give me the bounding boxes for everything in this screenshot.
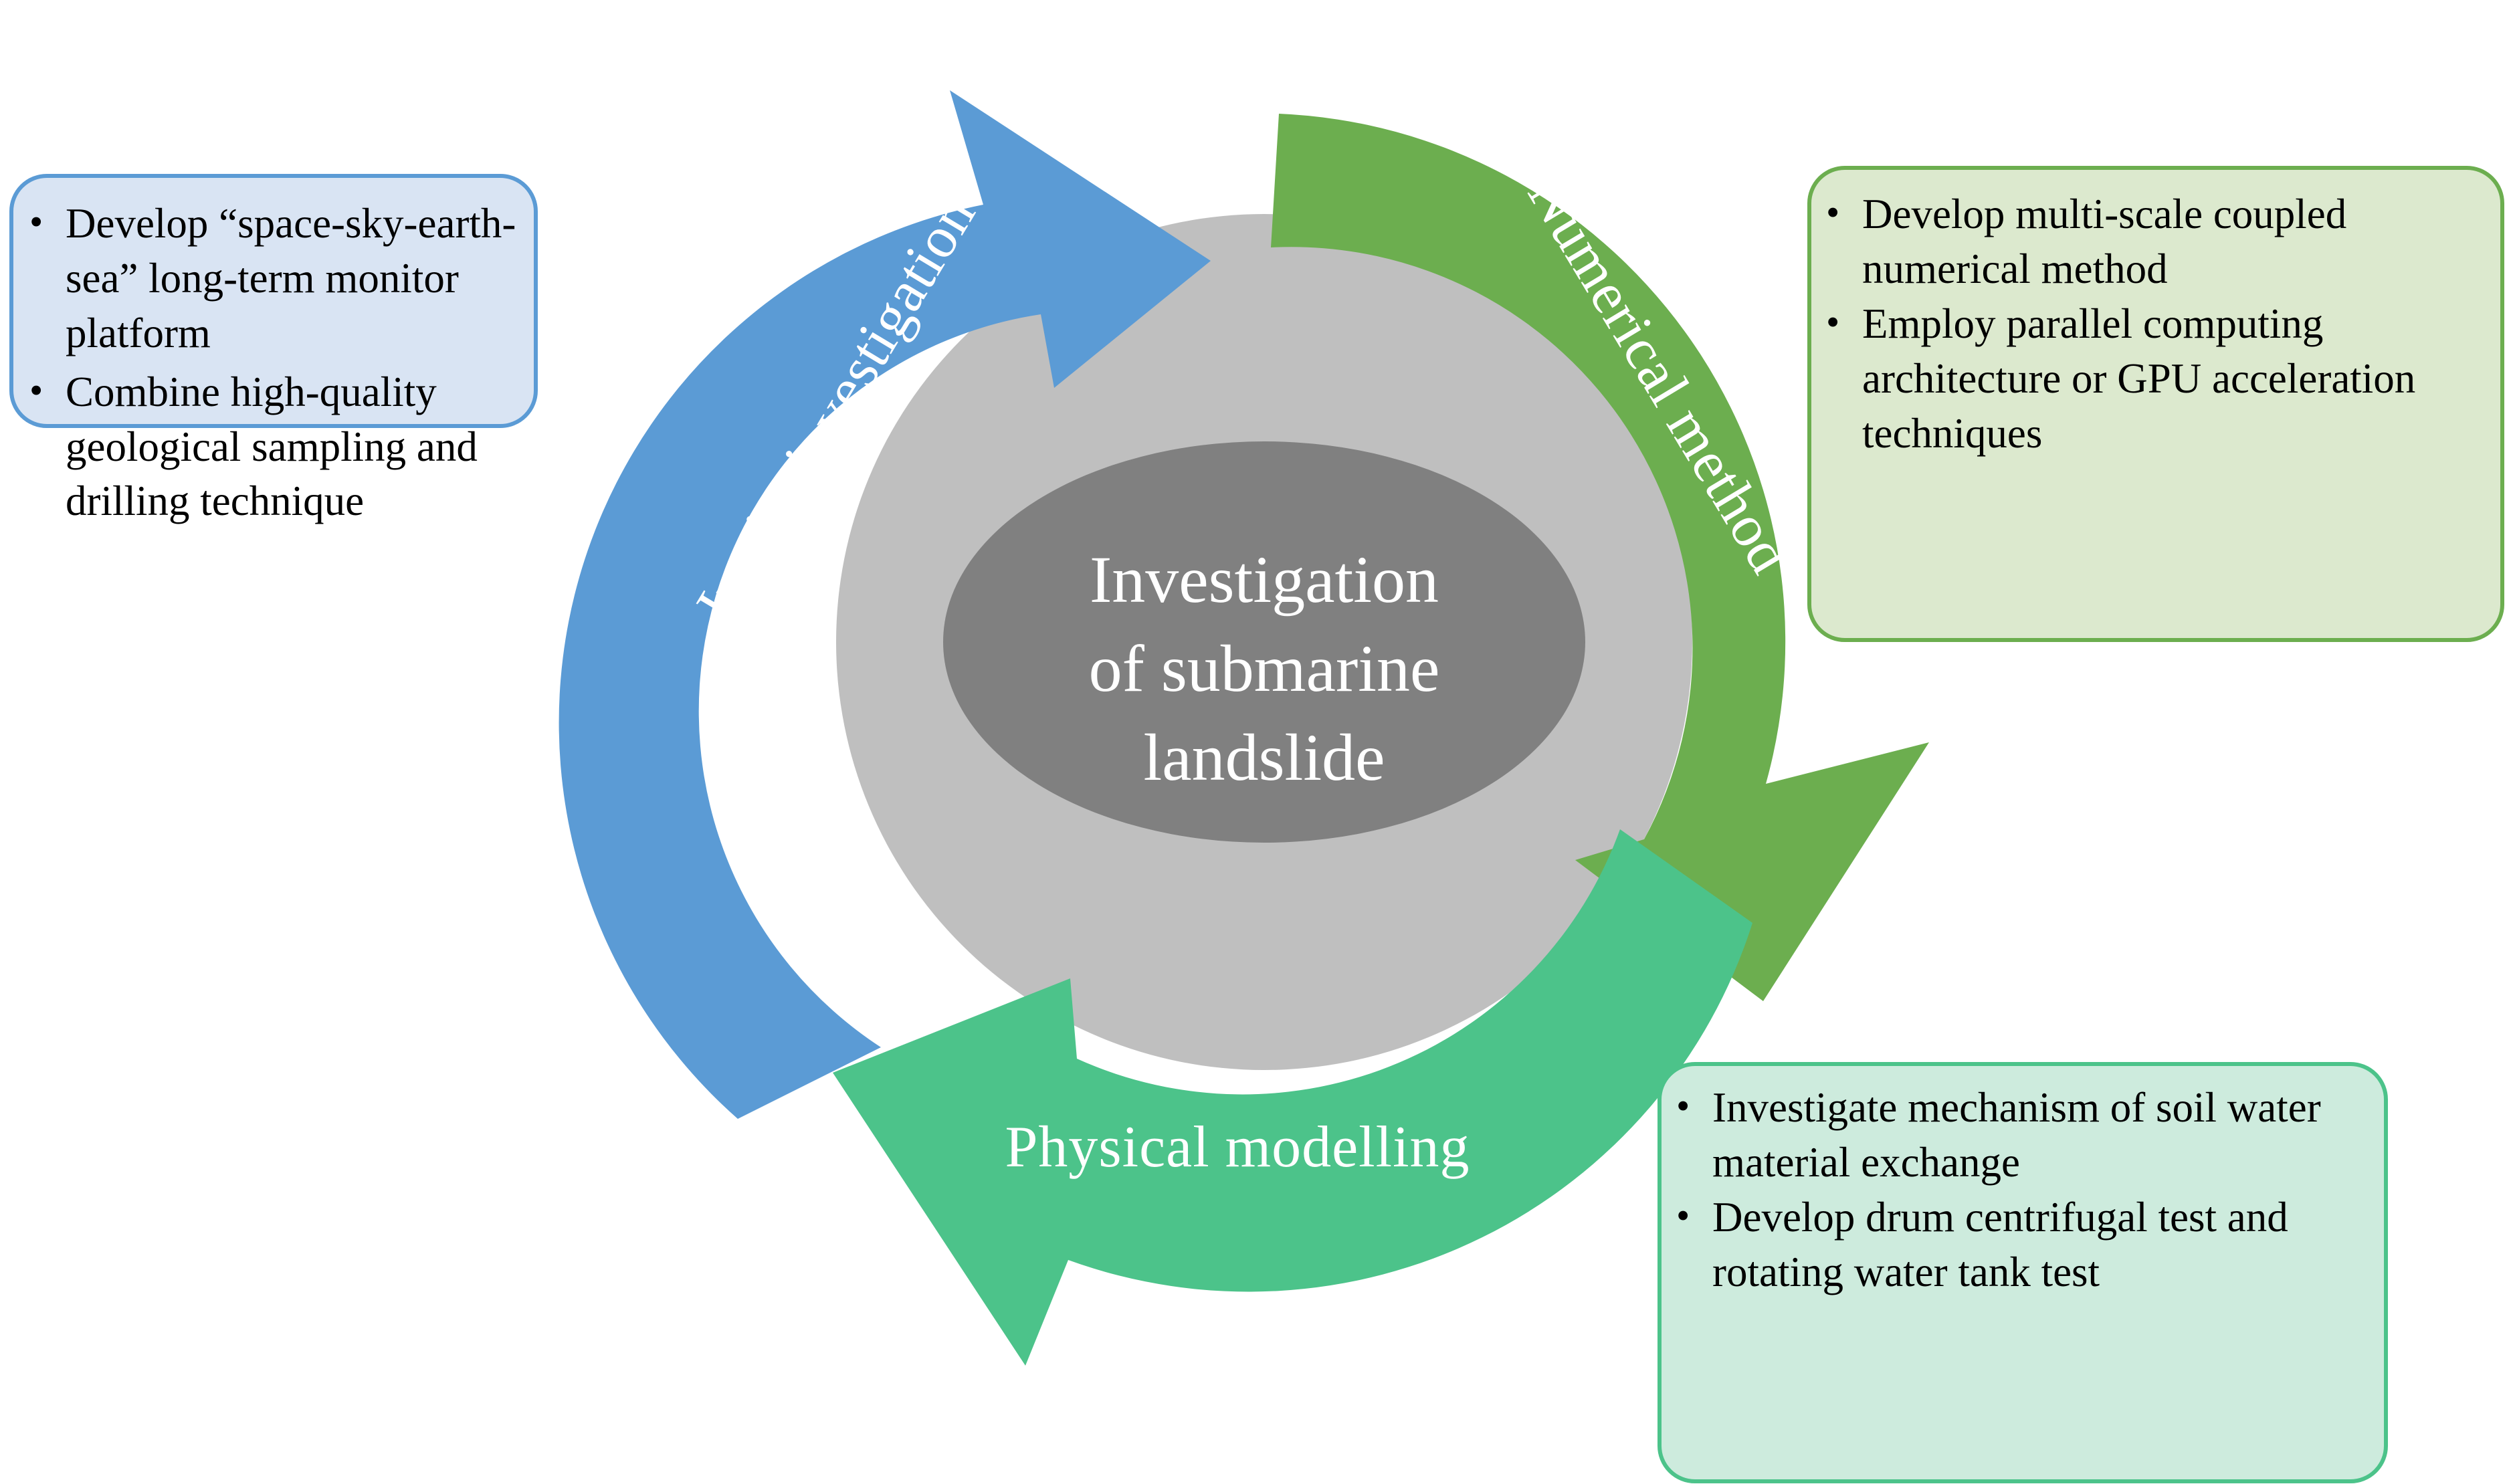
center-title-line-2: of submarine [957, 624, 1572, 713]
center-title-line-1: Investigation [957, 535, 1572, 624]
bullet-icon: • [1676, 1190, 1712, 1241]
center-title: Investigation of submarine landslide [957, 535, 1572, 802]
center-title-line-3: landslide [957, 713, 1572, 802]
callout-physical-modelling: • Investigate mechanism of soil water ma… [1657, 1062, 2388, 1483]
list-item: • Employ parallel computing architecture… [1826, 297, 2480, 461]
callout-item-text: Investigate mechanism of soil water mate… [1712, 1081, 2361, 1190]
callout-list-in-site-investigation: • Develop “space-sky-earth-sea” long-ter… [29, 197, 516, 529]
bullet-icon: • [29, 197, 66, 247]
callout-list-numerical-method: • Develop multi-scale coupled numerical … [1826, 187, 2480, 461]
list-item: • Develop drum centrifugal test and rota… [1676, 1190, 2361, 1300]
callout-item-text: Employ parallel computing architecture o… [1862, 297, 2480, 461]
callout-numerical-method: • Develop multi-scale coupled numerical … [1807, 166, 2504, 642]
callout-list-physical-modelling: • Investigate mechanism of soil water ma… [1676, 1081, 2361, 1300]
list-item: • Develop multi-scale coupled numerical … [1826, 187, 2480, 297]
bullet-icon: • [1826, 297, 1862, 347]
bullet-icon: • [29, 365, 66, 415]
list-item: • Investigate mechanism of soil water ma… [1676, 1081, 2361, 1190]
callout-item-text: Develop multi-scale coupled numerical me… [1862, 187, 2480, 297]
bullet-icon: • [1676, 1081, 1712, 1131]
list-item: • Develop “space-sky-earth-sea” long-ter… [29, 197, 516, 361]
list-item: • Combine high-quality geological sampli… [29, 365, 516, 530]
callout-item-text: Combine high-quality geological sampling… [66, 365, 516, 530]
callout-item-text: Develop “space-sky-earth-sea” long-term … [66, 197, 516, 361]
arrow-label-physical-modelling: Physical modelling [916, 1114, 1559, 1181]
bullet-icon: • [1826, 187, 1862, 237]
diagram-canvas: Investigation of submarine landslide In-… [0, 0, 2513, 1484]
callout-in-site-investigation: • Develop “space-sky-earth-sea” long-ter… [9, 174, 538, 428]
callout-item-text: Develop drum centrifugal test and rotati… [1712, 1190, 2361, 1300]
